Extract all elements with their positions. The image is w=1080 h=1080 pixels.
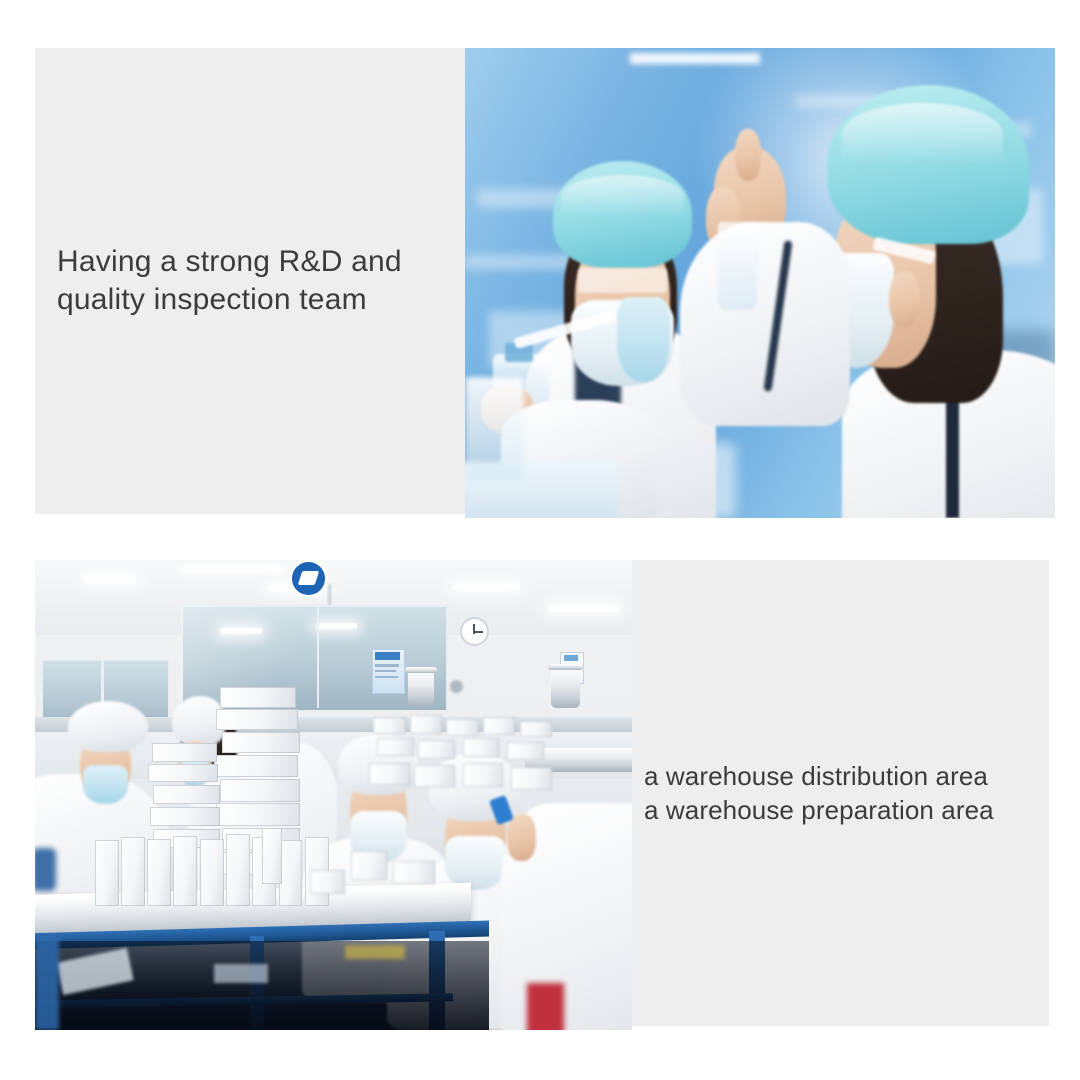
caption-text-warehouse: a warehouse distribution area a warehous… <box>632 759 1000 828</box>
caption-text-rnd: Having a strong R&D and quality inspecti… <box>35 243 412 320</box>
section-rnd-quality: Having a strong R&D and quality inspecti… <box>35 48 1055 518</box>
photo-laboratory-quality-inspection <box>465 48 1055 518</box>
product-feature-page: Having a strong R&D and quality inspecti… <box>0 0 1080 1080</box>
photo-warehouse-packing-clean-room <box>35 560 632 1030</box>
caption-panel-rnd: Having a strong R&D and quality inspecti… <box>35 48 465 514</box>
section-warehouse-areas: a warehouse distribution area a warehous… <box>35 560 1049 1030</box>
caption-panel-warehouse: a warehouse distribution area a warehous… <box>632 560 1049 1026</box>
